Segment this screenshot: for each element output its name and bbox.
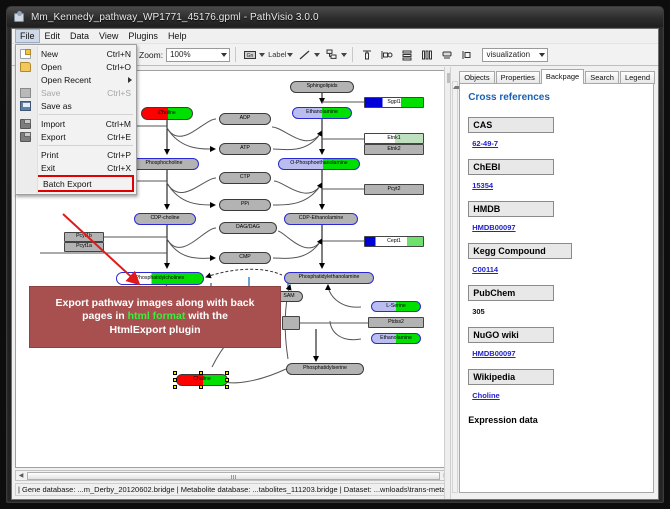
label-tool-button[interactable]: Label (268, 50, 293, 59)
xref-value-nugo-wiki[interactable]: HMDB00097 (472, 349, 515, 358)
file-menu-separator (39, 145, 133, 146)
chevron-down-icon (221, 53, 227, 57)
file-menu-separator (39, 114, 133, 115)
xref-value-kegg-compound[interactable]: C00114 (472, 265, 498, 274)
chevron-down-icon[interactable] (259, 53, 265, 57)
distribute-icon[interactable] (418, 46, 435, 63)
window-title: Mm_Kennedy_pathway_WP1771_45176.gpml - P… (31, 12, 319, 23)
file-menu-accelerator: Ctrl+M (106, 119, 136, 129)
svg-text:Gn: Gn (246, 53, 253, 59)
chevron-right-icon (128, 77, 132, 83)
xref-header-chebi: ChEBI (468, 159, 554, 175)
align-left-icon[interactable] (378, 46, 395, 63)
xref-header-pubchem: PubChem (468, 285, 554, 301)
screenshot-root: Mm_Kennedy_pathway_WP1771_45176.gpml - P… (0, 0, 670, 509)
gene-product-tool-button[interactable]: Gn (241, 46, 265, 63)
xref-header-wikipedia: Wikipedia (468, 369, 554, 385)
file-menu-popup: New Ctrl+N Open Ctrl+O Open Recent Save … (15, 44, 137, 195)
xref-value-hmdb[interactable]: HMDB00097 (472, 223, 515, 232)
export-icon (20, 132, 31, 142)
file-menu-label: Open (41, 62, 106, 72)
file-menu-item-save: Save Ctrl+S (16, 86, 136, 99)
statusbar: | Gene database: ...m_Derby_20120602.bri… (15, 483, 452, 496)
zoom-combobox[interactable]: 100% (166, 48, 230, 62)
line-tool-button[interactable] (296, 46, 320, 63)
file-menu-accelerator: Ctrl+E (107, 132, 136, 142)
menu-file[interactable]: File (15, 29, 40, 43)
file-menu-item-import[interactable]: Import Ctrl+M (16, 117, 136, 130)
xref-header-cas: CAS (468, 117, 554, 133)
expression-data-heading: Expression data (468, 415, 645, 425)
file-menu-accelerator: Ctrl+P (107, 150, 136, 160)
xref-header-nugo-wiki: NuGO wiki (468, 327, 554, 343)
xref-header-hmdb: HMDB (468, 201, 554, 217)
xref-value-wikipedia[interactable]: Choline (472, 391, 500, 400)
group-icon[interactable] (438, 46, 455, 63)
interaction-icon (323, 46, 340, 63)
menu-view[interactable]: View (94, 29, 123, 43)
scroll-left-icon[interactable]: ◀ (16, 471, 26, 480)
save-as-icon (20, 101, 31, 111)
xref-header-kegg-compound: Kegg Compound (468, 243, 572, 259)
file-menu-item-export[interactable]: Export Ctrl+E (16, 130, 136, 143)
xref-value-cas[interactable]: 62-49-7 (472, 139, 498, 148)
file-menu-label: Save (41, 88, 107, 98)
chevron-down-icon[interactable] (314, 53, 320, 57)
backpage-content: Cross references CAS 62-49-7 ChEBI 15354… (459, 83, 654, 493)
file-menu-label: Exit (41, 163, 107, 173)
file-menu-accelerator: Ctrl+S (107, 88, 136, 98)
menu-edit[interactable]: Edit (40, 29, 66, 43)
file-menu-item-batch-export[interactable]: Batch Export (20, 177, 132, 190)
import-icon (20, 119, 31, 129)
side-panel-tabs: Objects Properties Backpage Search Legen… (453, 70, 655, 84)
window-titlebar[interactable]: Mm_Kennedy_pathway_WP1771_45176.gpml - P… (7, 7, 663, 27)
stack-icon[interactable] (398, 46, 415, 63)
interaction-tool-button[interactable] (323, 46, 347, 63)
side-panel: Objects Properties Backpage Search Legen… (451, 67, 658, 499)
file-menu-label: Export (41, 132, 107, 142)
size-icon[interactable] (458, 46, 475, 63)
menu-help[interactable]: Help (163, 29, 192, 43)
chevron-down-icon[interactable] (341, 53, 347, 57)
visualization-combobox[interactable]: visualization (482, 48, 548, 62)
application-client-area: File Edit Data View Plugins Help Zoom: 1… (11, 28, 659, 500)
visualization-value: visualization (486, 50, 530, 59)
file-menu-label: Print (41, 150, 107, 160)
xref-value-pubchem: 305 (472, 307, 485, 316)
menubar: File Edit Data View Plugins Help (12, 29, 658, 44)
cross-references-heading: Cross references (468, 92, 645, 103)
file-menu-item-exit[interactable]: Exit Ctrl+X (16, 161, 136, 174)
menu-data[interactable]: Data (65, 29, 94, 43)
file-menu-label: Save as (41, 101, 131, 111)
zoom-value: 100% (170, 50, 190, 59)
tab-backpage[interactable]: Backpage (541, 69, 584, 84)
file-menu-label: Import (41, 119, 106, 129)
statusbar-text: | Gene database: ...m_Derby_20120602.bri… (18, 485, 452, 494)
file-menu-label: Open Recent (41, 75, 136, 85)
gene-product-icon: Gn (241, 46, 258, 63)
xref-value-chebi[interactable]: 15354 (472, 181, 493, 190)
zoom-label: Zoom: (139, 50, 163, 60)
file-menu-item-open-recent[interactable]: Open Recent (16, 73, 136, 86)
menu-plugins[interactable]: Plugins (123, 29, 163, 43)
chevron-down-icon[interactable] (287, 53, 293, 57)
file-menu-item-batch-export-highlight: Batch Export (18, 175, 134, 192)
canvas-horizontal-scrollbar[interactable]: ◀ ▶ (15, 470, 452, 481)
file-menu-accelerator: Ctrl+O (106, 62, 136, 72)
side-panel-scrollbar[interactable] (452, 81, 458, 493)
label-tool-label: Label (268, 50, 286, 59)
file-menu-item-open[interactable]: Open Ctrl+O (16, 60, 136, 73)
file-menu-accelerator: Ctrl+X (107, 163, 136, 173)
align-top-icon[interactable] (358, 46, 375, 63)
pathvisio-icon (13, 11, 26, 24)
new-document-icon (20, 49, 31, 59)
toolbar-separator (235, 47, 236, 62)
file-menu-item-save-as[interactable]: Save as (16, 99, 136, 112)
file-menu-accelerator: Ctrl+N (107, 49, 136, 59)
chevron-down-icon (539, 53, 545, 57)
open-folder-icon (20, 62, 31, 72)
file-menu-label: Batch Export (43, 179, 132, 189)
toolbar-separator (352, 47, 353, 62)
file-menu-item-print[interactable]: Print Ctrl+P (16, 148, 136, 161)
scrollbar-thumb[interactable] (27, 472, 440, 480)
line-icon (296, 46, 313, 63)
file-menu-label: New (41, 49, 107, 59)
save-icon (20, 88, 31, 98)
file-menu-item-new[interactable]: New Ctrl+N (16, 47, 136, 60)
